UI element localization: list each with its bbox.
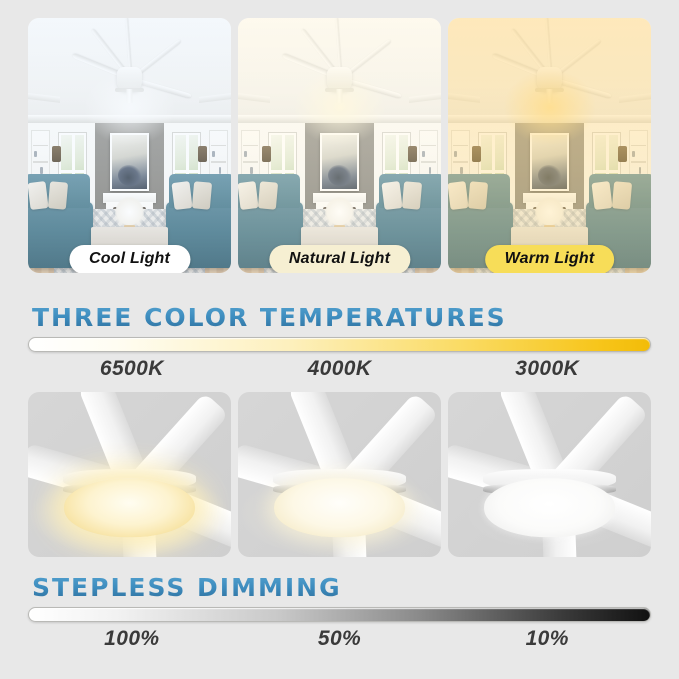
- living-room-scene-natural-icon: [238, 18, 441, 273]
- ceiling-fan-icon: [452, 31, 647, 123]
- badge-cool-light: Cool Light: [69, 245, 190, 273]
- section-heading-color-temperatures: THREE COLOR TEMPERATURES: [32, 303, 507, 332]
- living-room-scene-warm-icon: [448, 18, 651, 273]
- ceiling-fan-icon: [242, 31, 437, 123]
- dimming-value-10: 10%: [443, 627, 651, 651]
- badge-warm-light: Warm Light: [485, 245, 615, 273]
- living-room-scene-cool-icon: [28, 18, 231, 273]
- dimming-gradient-bar: [28, 607, 651, 622]
- dimming-value-100: 100%: [28, 627, 236, 651]
- fan-light-card-10: [448, 392, 651, 557]
- temperature-value-6500k: 6500K: [28, 357, 236, 381]
- room-card-natural-light: Natural Light: [238, 18, 441, 273]
- room-card-cool-light: Cool Light: [28, 18, 231, 273]
- ceiling-fan-icon: [32, 31, 227, 123]
- room-card-warm-light: Warm Light: [448, 18, 651, 273]
- temperature-value-4000k: 4000K: [236, 357, 444, 381]
- dimming-labels: 100% 50% 10%: [28, 627, 651, 651]
- color-temperature-gradient-bar: [28, 337, 651, 352]
- dimming-value-50: 50%: [236, 627, 444, 651]
- dimming-comparison-row: [28, 392, 651, 557]
- temperature-value-3000k: 3000K: [443, 357, 651, 381]
- color-temperature-labels: 6500K 4000K 3000K: [28, 357, 651, 381]
- section-heading-stepless-dimming: STEPLESS DIMMING: [32, 573, 342, 602]
- room-comparison-row: Cool Light: [28, 18, 651, 273]
- fan-light-card-100: [28, 392, 231, 557]
- badge-natural-light: Natural Light: [269, 245, 410, 273]
- fan-light-card-50: [238, 392, 441, 557]
